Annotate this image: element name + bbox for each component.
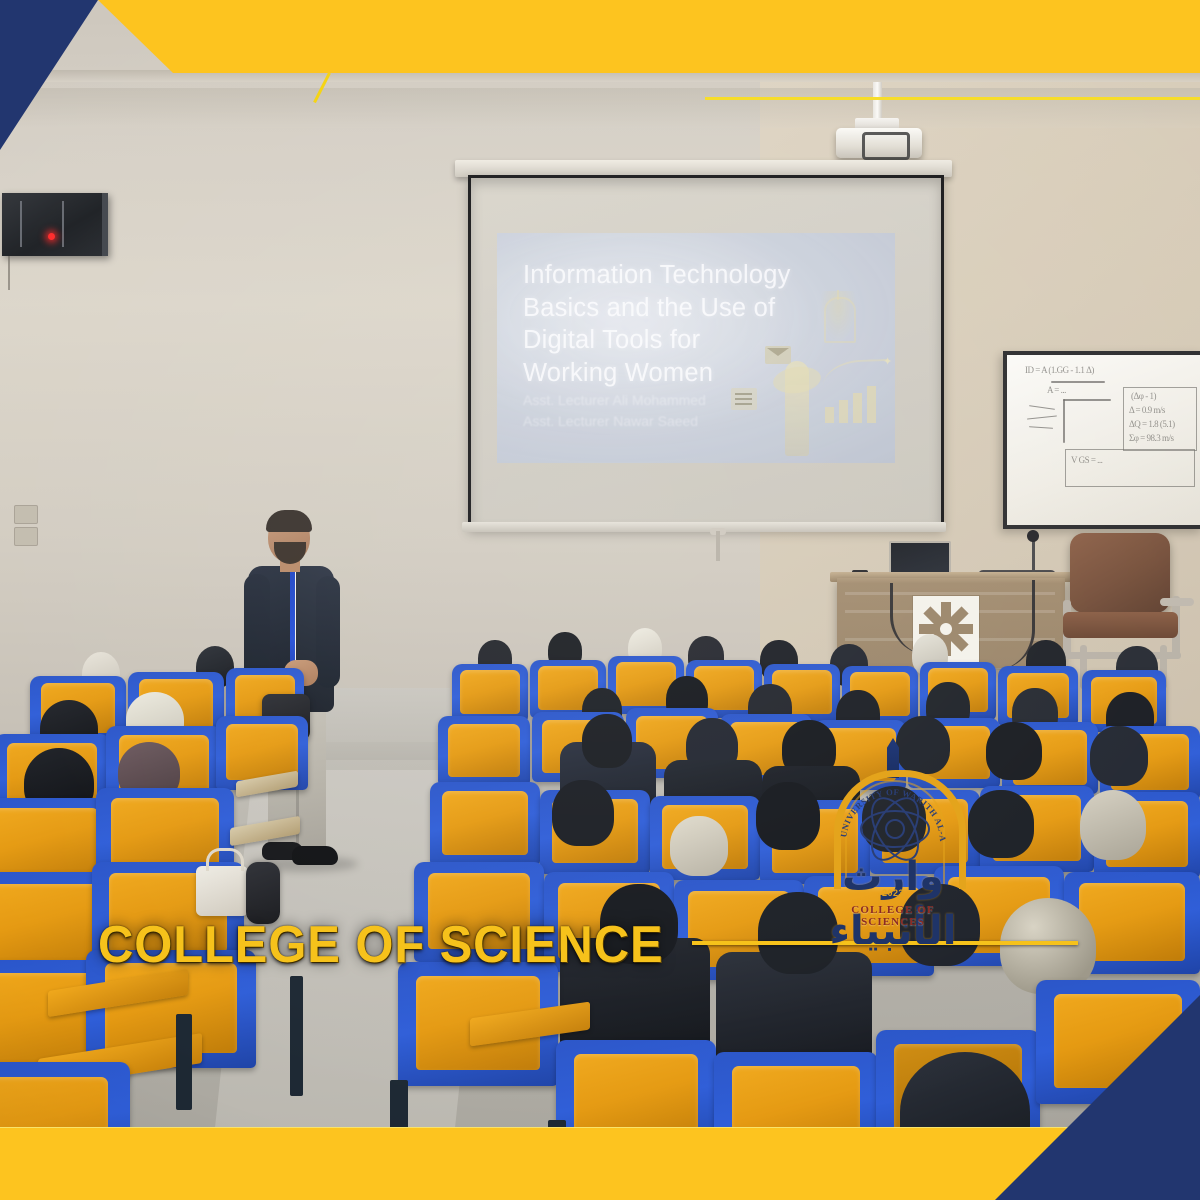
audience-member xyxy=(900,1052,1030,1172)
seat xyxy=(556,1040,716,1164)
person-with-award-icon xyxy=(785,361,809,456)
slide-crest-watermark-icon xyxy=(817,291,859,347)
audience-member xyxy=(968,790,1034,858)
audience-member xyxy=(670,816,728,876)
slide-title: Information Technology Basics and the Us… xyxy=(523,259,823,390)
seat xyxy=(414,862,544,962)
seat xyxy=(452,664,528,722)
audience-member xyxy=(756,782,820,850)
seat xyxy=(0,1062,130,1200)
screen-pull-cord[interactable] xyxy=(716,531,720,561)
seat xyxy=(438,716,530,786)
audience-member xyxy=(900,884,980,966)
wall-socket xyxy=(14,527,38,546)
star-icon: ✦ xyxy=(883,355,892,368)
whiteboard: ID = A (1.GG - 1.1 Δ) A = ... (Δφ - 1) Δ… xyxy=(1003,351,1200,529)
poster-canvas: Information Technology Basics and the Us… xyxy=(0,0,1200,1200)
audience-member xyxy=(1090,726,1148,786)
brown-leather-chair xyxy=(1070,533,1170,613)
wall-speaker-icon xyxy=(2,193,108,256)
speaker-led-indicator xyxy=(48,233,55,240)
handbag xyxy=(246,862,280,924)
wall-trim-band xyxy=(0,88,1200,128)
projected-slide: Information Technology Basics and the Us… xyxy=(497,233,895,463)
slide-title-line: Basics and the Use of xyxy=(523,292,823,325)
wall-socket xyxy=(14,505,38,524)
audience-member xyxy=(862,786,926,852)
ceiling-edge xyxy=(0,70,1200,82)
audience-member xyxy=(896,716,950,774)
handbag-handle xyxy=(206,848,244,871)
audience-member xyxy=(1080,790,1146,860)
screen-bottom-bar xyxy=(462,522,946,532)
audience-member xyxy=(986,722,1042,780)
seat xyxy=(714,1052,878,1178)
seat xyxy=(430,782,540,866)
chair-armrest xyxy=(1160,598,1194,606)
projector-bracket xyxy=(862,132,910,160)
slide-subtitle: Asst. Lecturer Ali Mohammed Asst. Lectur… xyxy=(523,390,803,432)
document-icon xyxy=(731,388,757,410)
bar-chart-icon xyxy=(825,383,887,423)
slide-presenter-line: Asst. Lecturer Ali Mohammed xyxy=(523,390,803,411)
slide-title-line: Information Technology xyxy=(523,259,823,292)
audience-member xyxy=(600,884,678,964)
lecture-hall-photo: Information Technology Basics and the Us… xyxy=(0,0,1200,1200)
desk-microphone-stem xyxy=(1032,537,1035,573)
envelope-icon xyxy=(765,346,791,364)
slide-presenter-line: Asst. Lecturer Nawar Saeed xyxy=(523,411,803,432)
desk-microphone xyxy=(1027,530,1039,542)
projection-screen: Information Technology Basics and the Us… xyxy=(468,175,944,529)
chair-seat xyxy=(1063,612,1178,638)
handbag xyxy=(196,866,248,916)
audience-member xyxy=(582,714,632,768)
speaker-cord xyxy=(8,256,10,290)
audience-member xyxy=(552,780,614,846)
seat xyxy=(1036,980,1200,1104)
audience-member xyxy=(758,892,838,974)
